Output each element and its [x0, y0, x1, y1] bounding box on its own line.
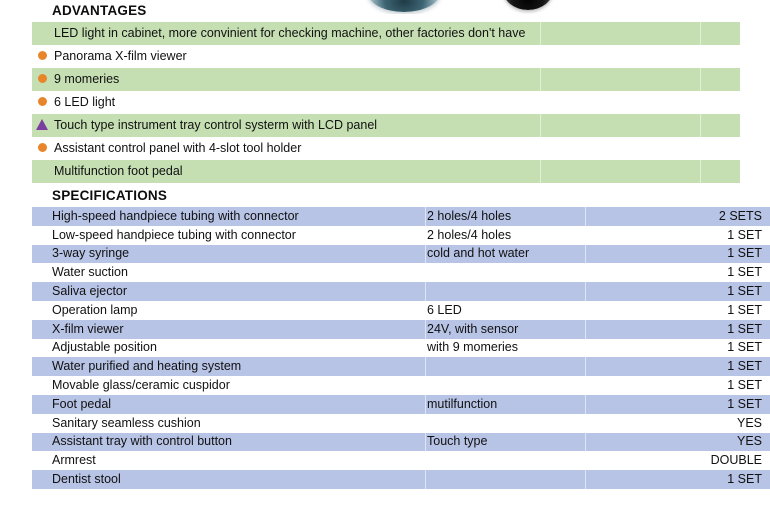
- bullet-triangle-icon: [36, 119, 48, 130]
- specification-row: Assistant tray with control buttonTouch …: [32, 433, 770, 452]
- specifications-heading: SPECIFICATIONS: [52, 188, 167, 203]
- specification-detail: mutilfunction: [425, 395, 585, 414]
- specification-name: Low-speed handpiece tubing with connecto…: [32, 226, 425, 245]
- specification-detail: with 9 momeries: [425, 339, 585, 358]
- bullet-dot-icon: [38, 74, 47, 83]
- advantage-spacer-cell-2: [540, 91, 700, 114]
- specification-detail: [425, 451, 585, 470]
- specification-detail: 6 LED: [425, 301, 585, 320]
- advantage-spacer-cell-3: [700, 137, 740, 160]
- specification-detail: [425, 282, 585, 301]
- advantage-spacer-cell-2: [540, 22, 700, 45]
- handpiece-photo: [368, 0, 440, 12]
- advantage-spacer-cell-3: [700, 22, 740, 45]
- specification-quantity: 1 SET: [585, 245, 770, 264]
- advantage-text: Assistant control panel with 4-slot tool…: [52, 137, 540, 160]
- specification-detail: [425, 414, 585, 433]
- specification-name: Operation lamp: [32, 301, 425, 320]
- specification-quantity: YES: [585, 433, 770, 452]
- bullet-dot-icon: [38, 97, 47, 106]
- specification-row: Dentist stool1 SET: [32, 470, 770, 489]
- advantage-row: 9 momeries: [32, 68, 740, 91]
- specification-detail: [425, 357, 585, 376]
- specifications-table: High-speed handpiece tubing with connect…: [32, 207, 770, 489]
- specification-quantity: 1 SET: [585, 226, 770, 245]
- advantage-text: Panorama X-film viewer: [52, 45, 540, 68]
- advantage-text: 9 momeries: [52, 68, 540, 91]
- specification-row: Operation lamp6 LED1 SET: [32, 301, 770, 320]
- advantages-table-body: LED light in cabinet, more convinient fo…: [32, 22, 740, 183]
- specification-quantity: 1 SET: [585, 339, 770, 358]
- specification-row: X-film viewer24V, with sensor1 SET: [32, 320, 770, 339]
- specification-quantity: 1 SET: [585, 263, 770, 282]
- advantage-spacer-cell-2: [540, 45, 700, 68]
- specification-detail: 2 holes/4 holes: [425, 207, 585, 226]
- advantage-spacer-cell-3: [700, 68, 740, 91]
- specification-name: Assistant tray with control button: [32, 433, 425, 452]
- specification-quantity: 1 SET: [585, 282, 770, 301]
- advantage-spacer-cell-3: [700, 45, 740, 68]
- bullet-dot-icon: [38, 143, 47, 152]
- specification-name: Movable glass/ceramic cuspidor: [32, 376, 425, 395]
- specification-row: Low-speed handpiece tubing with connecto…: [32, 226, 770, 245]
- advantage-row: LED light in cabinet, more convinient fo…: [32, 22, 740, 45]
- advantage-bullet-cell: [32, 160, 52, 183]
- specification-detail: 2 holes/4 holes: [425, 226, 585, 245]
- specification-quantity: DOUBLE: [585, 451, 770, 470]
- advantage-text: Touch type instrument tray control syste…: [52, 114, 540, 137]
- advantage-spacer-cell-3: [700, 114, 740, 137]
- specification-name: Sanitary seamless cushion: [32, 414, 425, 433]
- advantage-text: LED light in cabinet, more convinient fo…: [52, 22, 540, 45]
- specification-row: Water suction1 SET: [32, 263, 770, 282]
- specification-detail: Touch type: [425, 433, 585, 452]
- specification-row: Water purified and heating system1 SET: [32, 357, 770, 376]
- specification-detail: 24V, with sensor: [425, 320, 585, 339]
- specification-name: High-speed handpiece tubing with connect…: [32, 207, 425, 226]
- advantage-row: 6 LED light: [32, 91, 740, 114]
- advantage-spacer-cell-3: [700, 160, 740, 183]
- advantage-spacer-cell-2: [540, 68, 700, 91]
- specification-detail: [425, 376, 585, 395]
- advantage-row: Assistant control panel with 4-slot tool…: [32, 137, 740, 160]
- specification-name: Dentist stool: [32, 470, 425, 489]
- specifications-table-body: High-speed handpiece tubing with connect…: [32, 207, 770, 489]
- specification-detail: [425, 263, 585, 282]
- specification-row: Foot pedalmutilfunction1 SET: [32, 395, 770, 414]
- specification-name: Foot pedal: [32, 395, 425, 414]
- advantage-row: Multifunction foot pedal: [32, 160, 740, 183]
- nozzle-photo: [503, 0, 553, 10]
- bullet-none-icon: [38, 166, 47, 175]
- specification-quantity: 1 SET: [585, 357, 770, 376]
- advantage-bullet-cell: [32, 137, 52, 160]
- advantage-spacer-cell-2: [540, 137, 700, 160]
- specification-row: Adjustable positionwith 9 momeries1 SET: [32, 339, 770, 358]
- specification-name: Adjustable position: [32, 339, 425, 358]
- advantage-bullet-cell: [32, 114, 52, 137]
- specification-row: Movable glass/ceramic cuspidor1 SET: [32, 376, 770, 395]
- advantage-row: Touch type instrument tray control syste…: [32, 114, 740, 137]
- specification-name: 3-way syringe: [32, 245, 425, 264]
- specification-quantity: YES: [585, 414, 770, 433]
- specification-row: Sanitary seamless cushionYES: [32, 414, 770, 433]
- specification-row: ArmrestDOUBLE: [32, 451, 770, 470]
- specification-detail: [425, 470, 585, 489]
- specification-name: Armrest: [32, 451, 425, 470]
- specification-name: Water suction: [32, 263, 425, 282]
- specification-detail: cold and hot water: [425, 245, 585, 264]
- advantages-table: LED light in cabinet, more convinient fo…: [32, 22, 740, 183]
- specification-name: Saliva ejector: [32, 282, 425, 301]
- advantage-bullet-cell: [32, 68, 52, 91]
- advantage-spacer-cell-2: [540, 160, 700, 183]
- specification-quantity: 2 SETS: [585, 207, 770, 226]
- advantage-text: Multifunction foot pedal: [52, 160, 540, 183]
- specification-quantity: 1 SET: [585, 376, 770, 395]
- bullet-none-icon: [38, 28, 47, 37]
- specification-quantity: 1 SET: [585, 470, 770, 489]
- advantage-text: 6 LED light: [52, 91, 540, 114]
- specification-name: X-film viewer: [32, 320, 425, 339]
- advantage-row: Panorama X-film viewer: [32, 45, 740, 68]
- advantages-heading: ADVANTAGES: [52, 3, 147, 18]
- specification-row: 3-way syringecold and hot water1 SET: [32, 245, 770, 264]
- specification-name: Water purified and heating system: [32, 357, 425, 376]
- specification-row: High-speed handpiece tubing with connect…: [32, 207, 770, 226]
- advantage-spacer-cell-3: [700, 91, 740, 114]
- bullet-dot-icon: [38, 51, 47, 60]
- advantage-bullet-cell: [32, 45, 52, 68]
- advantage-spacer-cell-2: [540, 114, 700, 137]
- specification-quantity: 1 SET: [585, 395, 770, 414]
- specification-quantity: 1 SET: [585, 320, 770, 339]
- specification-quantity: 1 SET: [585, 301, 770, 320]
- advantage-bullet-cell: [32, 91, 52, 114]
- advantage-bullet-cell: [32, 22, 52, 45]
- specification-row: Saliva ejector1 SET: [32, 282, 770, 301]
